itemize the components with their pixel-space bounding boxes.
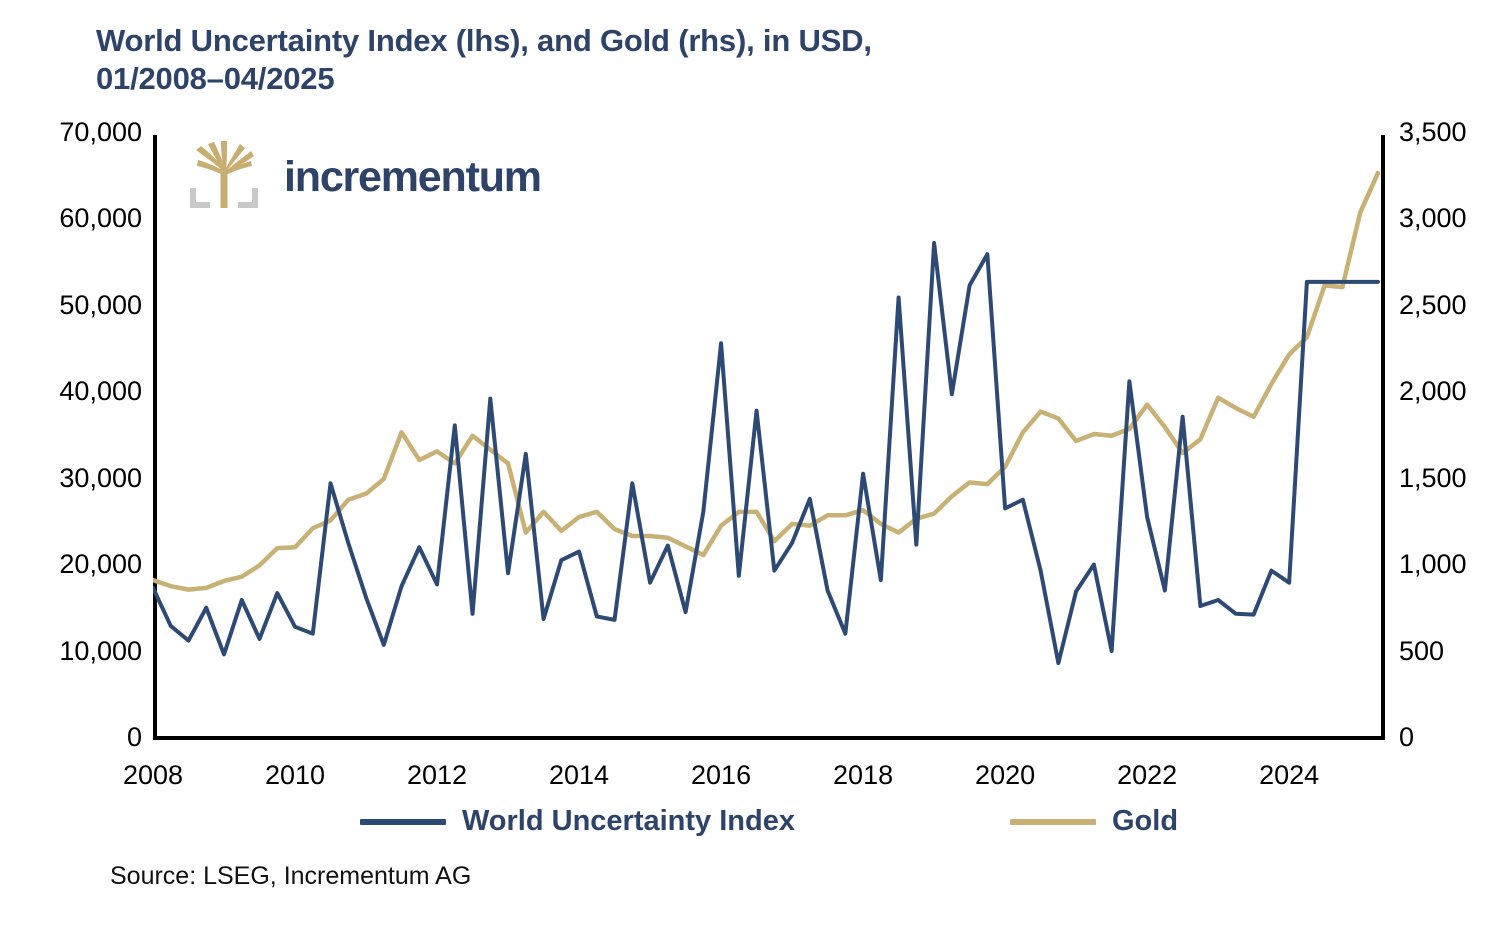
tree-icon xyxy=(186,138,262,217)
chart-legend: World Uncertainty Index Gold xyxy=(153,805,1385,838)
y-axis-tick-right-3: 1,500 xyxy=(1399,463,1467,494)
plot-area xyxy=(153,135,1385,740)
y-axis-tick-left-0: 0 xyxy=(127,722,142,753)
x-axis-tick-7: 2022 xyxy=(1092,760,1202,791)
y-axis-tick-left-4: 40,000 xyxy=(59,376,142,407)
y-axis-tick-left-7: 70,000 xyxy=(59,117,142,148)
page-title: World Uncertainty Index (lhs), and Gold … xyxy=(96,22,1276,98)
y-axis-tick-right-1: 500 xyxy=(1399,636,1444,667)
x-axis-tick-2: 2012 xyxy=(382,760,492,791)
y-axis-tick-right-0: 0 xyxy=(1399,722,1414,753)
x-axis-tick-8: 2024 xyxy=(1234,760,1344,791)
y-axis-tick-right-4: 2,000 xyxy=(1399,376,1467,407)
source-note: Source: LSEG, Incrementum AG xyxy=(110,862,471,891)
y-axis-tick-left-2: 20,000 xyxy=(59,549,142,580)
legend-swatch-wui xyxy=(360,819,446,825)
y-axis-tick-left-1: 10,000 xyxy=(59,636,142,667)
x-axis-tick-5: 2018 xyxy=(808,760,918,791)
x-axis-tick-0: 2008 xyxy=(98,760,208,791)
y-axis-tick-left-3: 30,000 xyxy=(59,463,142,494)
legend-label-wui: World Uncertainty Index xyxy=(462,805,795,838)
legend-item-gold[interactable]: Gold xyxy=(1010,805,1178,838)
legend-label-gold: Gold xyxy=(1112,805,1178,838)
chart-canvas xyxy=(153,135,1385,740)
x-axis-tick-6: 2020 xyxy=(950,760,1060,791)
y-axis-tick-right-7: 3,500 xyxy=(1399,117,1467,148)
y-axis-tick-right-6: 3,000 xyxy=(1399,203,1467,234)
x-axis-tick-3: 2014 xyxy=(524,760,634,791)
legend-item-world-uncertainty-index[interactable]: World Uncertainty Index xyxy=(360,805,795,838)
x-axis-tick-1: 2010 xyxy=(240,760,350,791)
y-axis-tick-left-6: 60,000 xyxy=(59,203,142,234)
incrementum-logo: incrementum xyxy=(186,138,541,217)
chart-page: World Uncertainty Index (lhs), and Gold … xyxy=(0,0,1500,950)
legend-swatch-gold xyxy=(1010,819,1096,825)
logo-wordmark: incrementum xyxy=(284,153,541,202)
x-axis-tick-4: 2016 xyxy=(666,760,776,791)
series-line-world-uncertainty-index xyxy=(153,243,1378,663)
y-axis-tick-right-5: 2,500 xyxy=(1399,290,1467,321)
y-axis-tick-right-2: 1,000 xyxy=(1399,549,1467,580)
y-axis-tick-left-5: 50,000 xyxy=(59,290,142,321)
